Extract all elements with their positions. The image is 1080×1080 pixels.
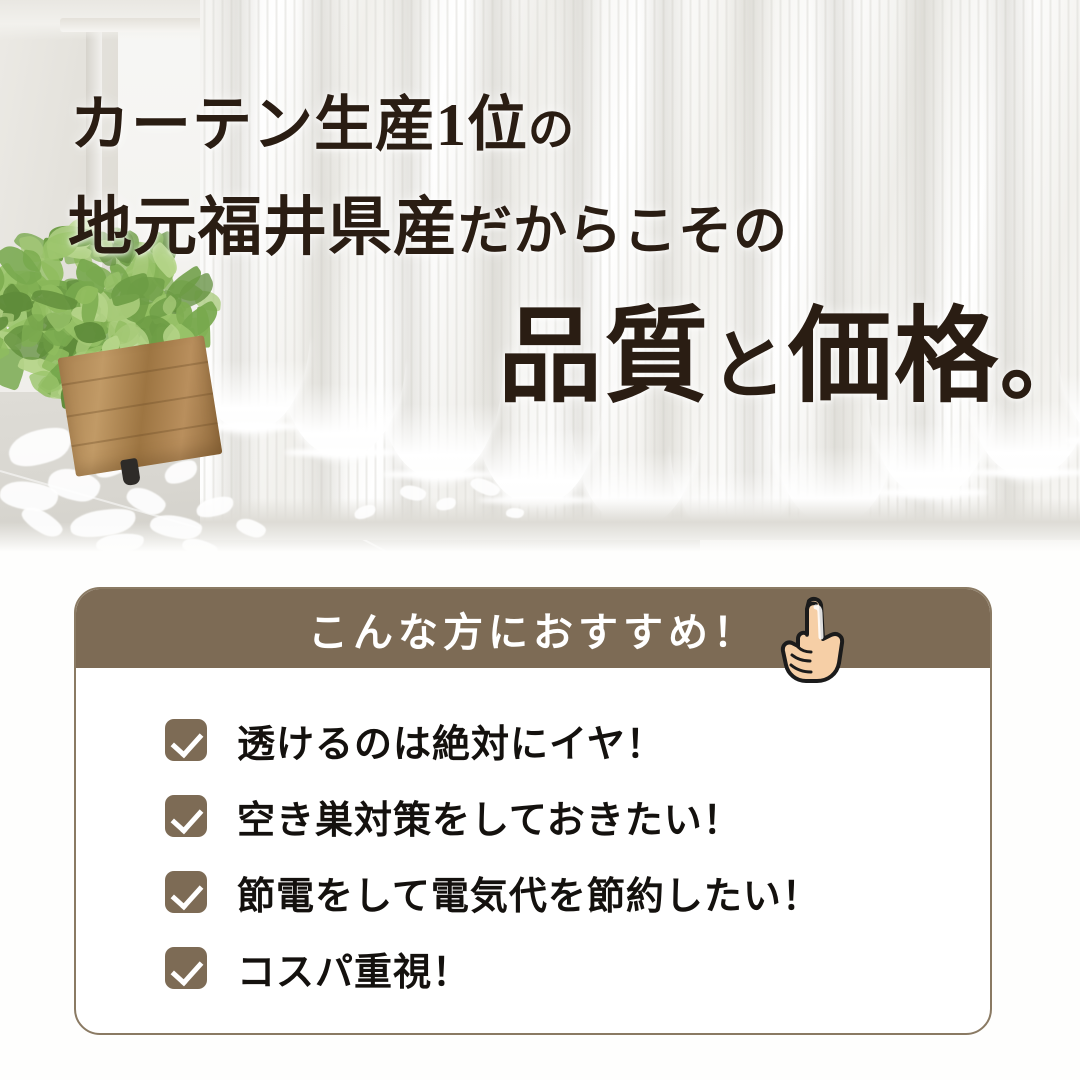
list-item-label: コスパ重視！ <box>237 941 471 996</box>
hero-line-1-main: カーテン生産1位 <box>70 92 528 158</box>
headline-connector: と <box>710 325 788 409</box>
checkmark-icon[interactable] <box>165 871 207 913</box>
hero-headline: 品質と価格。 <box>498 304 1080 412</box>
list-item[interactable]: 空き巣対策をしておきたい！ <box>76 778 990 854</box>
list-item[interactable]: 透けるのは絶対にイヤ！ <box>76 702 990 778</box>
headline-part-1: 品質 <box>498 300 710 415</box>
card-body: 透けるのは絶対にイヤ！空き巣対策をしておきたい！節電をして電気代を節約したい！コ… <box>76 668 990 1006</box>
list-item-label: 透けるのは絶対にイヤ！ <box>237 713 665 768</box>
recommendation-list: 透けるのは絶対にイヤ！空き巣対策をしておきたい！節電をして電気代を節約したい！コ… <box>76 702 990 1006</box>
hero-line-2: 地元福井県産だからこその <box>68 176 788 268</box>
checkmark-icon[interactable] <box>165 795 207 837</box>
hero-copy: カーテン生産1位の 地元福井県産だからこその 品質と価格。 <box>0 0 1080 556</box>
card-header-title: こんな方におすすめ！ <box>308 600 758 658</box>
headline-part-2: 価格 <box>788 300 1000 415</box>
list-item-label: 節電をして電気代を節約したい！ <box>237 865 821 920</box>
pointing-up-hand-icon <box>776 595 850 683</box>
promo-page: カーテン生産1位の 地元福井県産だからこその 品質と価格。 こんな方におすすめ！… <box>0 0 1080 1080</box>
card-header: こんな方におすすめ！ <box>76 589 990 668</box>
list-item[interactable]: 節電をして電気代を節約したい！ <box>76 854 990 930</box>
checkmark-icon[interactable] <box>165 947 207 989</box>
headline-period: 。 <box>1000 315 1080 411</box>
list-item[interactable]: コスパ重視！ <box>76 930 990 1006</box>
hero-line-2-suffix: だからこその <box>458 201 788 261</box>
checkmark-icon[interactable] <box>165 719 207 761</box>
hero-line-2-main: 地元福井県産 <box>68 192 458 263</box>
hero-line-1-suffix: の <box>528 104 575 155</box>
list-item-label: 空き巣対策をしておきたい！ <box>237 789 742 844</box>
recommendation-card: こんな方におすすめ！ 透けるのは絶対にイヤ！空き巣対策をしておきたい！節電をして… <box>74 587 992 1035</box>
hero-line-1: カーテン生産1位の <box>70 76 575 163</box>
